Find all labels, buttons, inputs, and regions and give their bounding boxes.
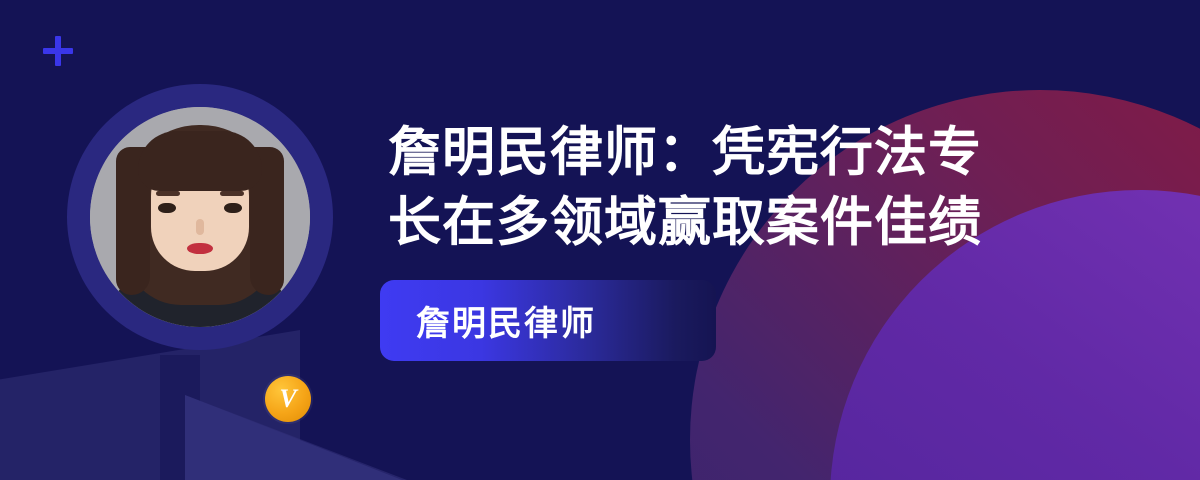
avatar-nose xyxy=(196,219,204,235)
page-title-line-1: 詹明民律师：凭宪行法专 xyxy=(388,118,1088,188)
verified-badge-icon: V xyxy=(265,376,311,422)
avatar-eyebrow-left xyxy=(156,191,180,196)
avatar-eye-left xyxy=(158,203,176,213)
verified-badge-letter: V xyxy=(279,386,296,412)
plus-icon-bar-vertical xyxy=(55,36,61,66)
vertical-band-shape xyxy=(160,355,200,480)
lawyer-name-button[interactable]: 詹明民律师 xyxy=(380,280,716,361)
page-title: 詹明民律师：凭宪行法专 长在多领域赢取案件佳绩 xyxy=(388,118,1088,258)
plus-icon xyxy=(40,33,76,69)
avatar-lips xyxy=(187,243,213,254)
page-title-line-2: 长在多领域赢取案件佳绩 xyxy=(388,188,1088,258)
wedge-shape-left xyxy=(0,330,300,480)
avatar-fringe xyxy=(138,131,262,191)
avatar: V xyxy=(67,84,333,350)
banner-content: 詹明民律师：凭宪行法专 长在多领域赢取案件佳绩 詹明民律师 xyxy=(388,118,1088,361)
avatar-eye-right xyxy=(224,203,242,213)
avatar-eyebrow-right xyxy=(220,191,244,196)
avatar-photo xyxy=(90,107,310,327)
promo-banner: V 詹明民律师：凭宪行法专 长在多领域赢取案件佳绩 詹明民律师 xyxy=(0,0,1200,480)
